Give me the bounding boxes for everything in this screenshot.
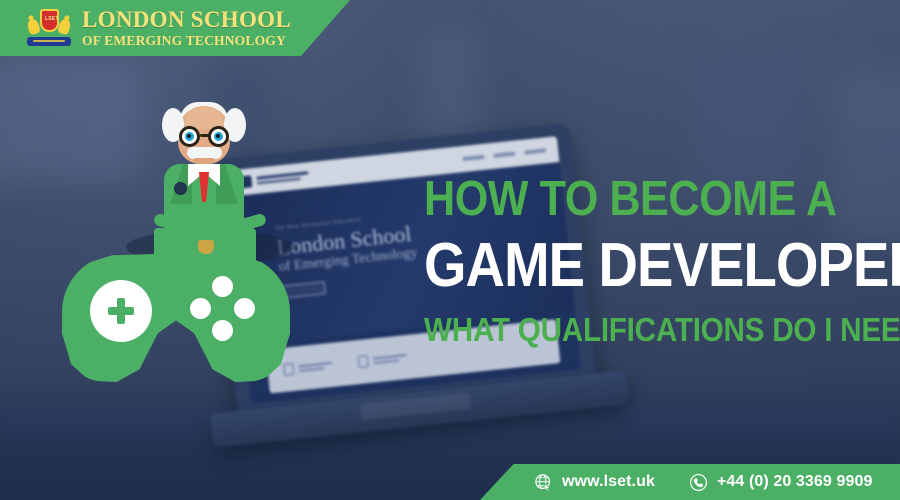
controller-button-left [190,298,211,319]
brand-wordmark: LONDON SCHOOL OF EMERGING TECHNOLOGY [82,8,291,48]
website-contact-item[interactable]: www.lset.uk [534,473,655,492]
controller-button-bottom [212,320,233,341]
contact-footer-bar: www.lset.uk +44 (0) 20 3369 9909 [480,464,900,500]
brand-header: LSET LONDON SCHOOL OF EMERGING TECHNOLOG… [0,0,350,56]
controller-button-right [234,298,255,319]
eye-right [214,132,223,141]
website-nav-links [462,148,546,161]
headline-line-3: WHAT QUALIFICATIONS DO I NEED? [424,313,838,346]
phone-number-text: +44 (0) 20 3369 9909 [717,473,872,491]
game-controller-icon [62,254,290,382]
eye-left [185,132,194,141]
phone-circle-icon [689,473,708,492]
lset-crest-icon: LSET [26,8,72,48]
brand-line-1: LONDON SCHOOL [82,8,291,31]
controller-button-top [212,276,233,297]
crest-lion-left-icon [26,18,41,35]
feature-icon [358,355,369,368]
crest-ribbon-icon [27,37,71,46]
headline-line-2: GAME DEVELOPER [424,235,829,297]
brand-line-2: OF EMERGING TECHNOLOGY [82,34,291,48]
character-laptop-logo-icon [198,240,214,254]
globe-cursor-icon [534,473,553,492]
feature-text [298,361,333,372]
hero-illustration [62,104,292,382]
jacket-badge-icon [174,182,187,195]
phone-contact-item[interactable]: +44 (0) 20 3369 9909 [689,473,872,492]
feature-text [373,354,408,365]
crest-lion-right-icon [57,18,72,35]
headline-line-1: HOW TO BECOME A [424,176,829,223]
website-feature-card [358,351,408,368]
crest-shield-icon: LSET [40,9,59,32]
crest-shield-text: LSET [45,16,54,22]
glasses-right-icon [208,126,229,147]
glasses-left-icon [179,126,200,147]
dpad-cross [108,298,134,324]
blog-banner: The New Generation Education London Scho… [0,0,900,500]
website-url-text: www.lset.uk [562,473,655,491]
headline-block: HOW TO BECOME A GAME DEVELOPER WHAT QUAL… [424,176,884,346]
